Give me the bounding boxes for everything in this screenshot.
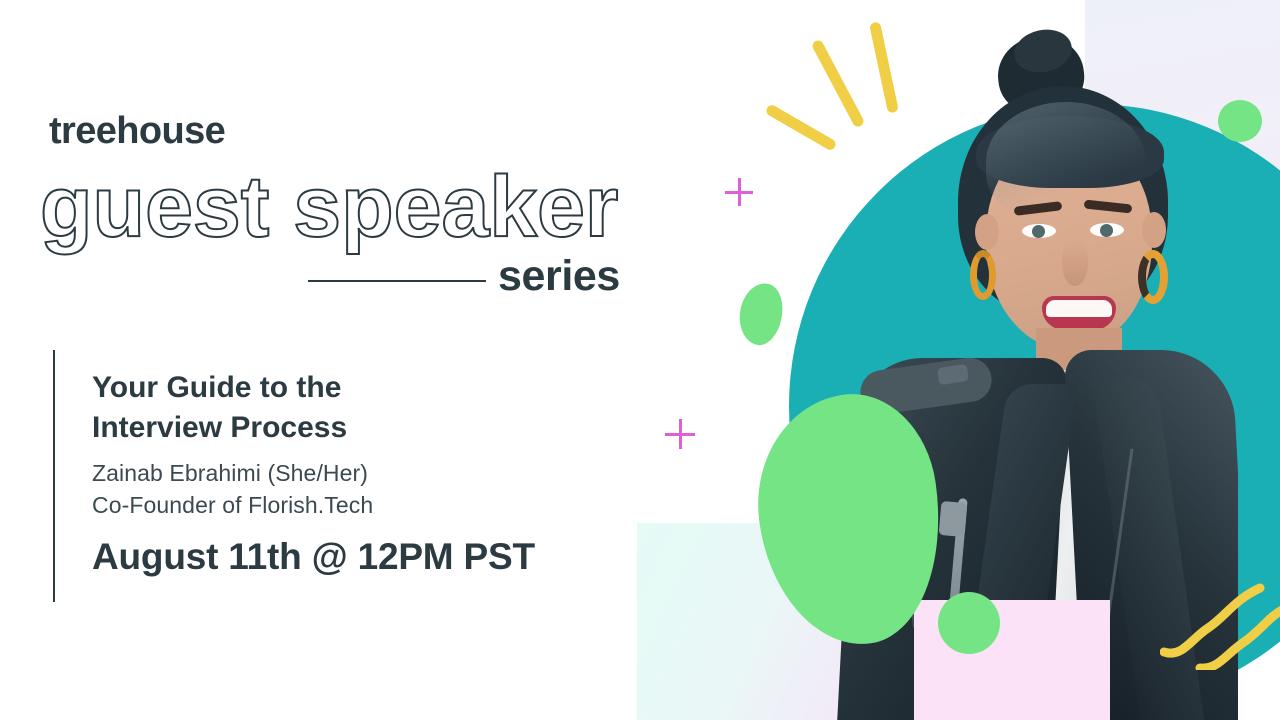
talk-title-line-1: Your Guide to the: [92, 368, 572, 408]
event-date-time: August 11th @ 12PM PST: [92, 536, 535, 578]
left-vertical-rule: [53, 350, 55, 602]
portrait-ear-right: [1142, 212, 1166, 248]
portrait-zipper-pull: [939, 501, 968, 537]
portrait-earring-right: [1138, 250, 1168, 304]
portrait-iris-left: [1032, 225, 1045, 238]
yellow-wave-strokes: [1160, 578, 1280, 670]
talk-title: Your Guide to the Interview Process: [92, 368, 572, 447]
green-blob-small-shape: [734, 279, 788, 348]
magenta-plus-mark-1: [725, 178, 753, 206]
series-row: series: [40, 252, 640, 310]
portrait-earring-left: [970, 250, 996, 300]
portrait-teeth: [1046, 300, 1112, 317]
series-divider-rule: [308, 280, 486, 282]
portrait-mouth: [1042, 296, 1116, 330]
green-dot-large-shape: [938, 592, 1000, 654]
brand-wordmark: treehouse: [49, 110, 225, 153]
portrait-iris-right: [1100, 224, 1113, 237]
headline-outline-text: guest speaker: [40, 162, 618, 252]
portrait-nose: [1062, 240, 1088, 286]
green-dot-small-shape: [892, 556, 924, 596]
slide-canvas: treehouse guest speaker series Your Guid…: [0, 0, 1280, 720]
magenta-plus-mark-2: [665, 419, 695, 449]
speaker-name: Zainab Ebrahimi (She/Her): [92, 460, 368, 487]
portrait-ear-left: [975, 214, 999, 250]
talk-title-line-2: Interview Process: [92, 408, 572, 448]
speaker-role: Co-Founder of Florish.Tech: [92, 492, 373, 519]
series-word: series: [498, 252, 620, 301]
